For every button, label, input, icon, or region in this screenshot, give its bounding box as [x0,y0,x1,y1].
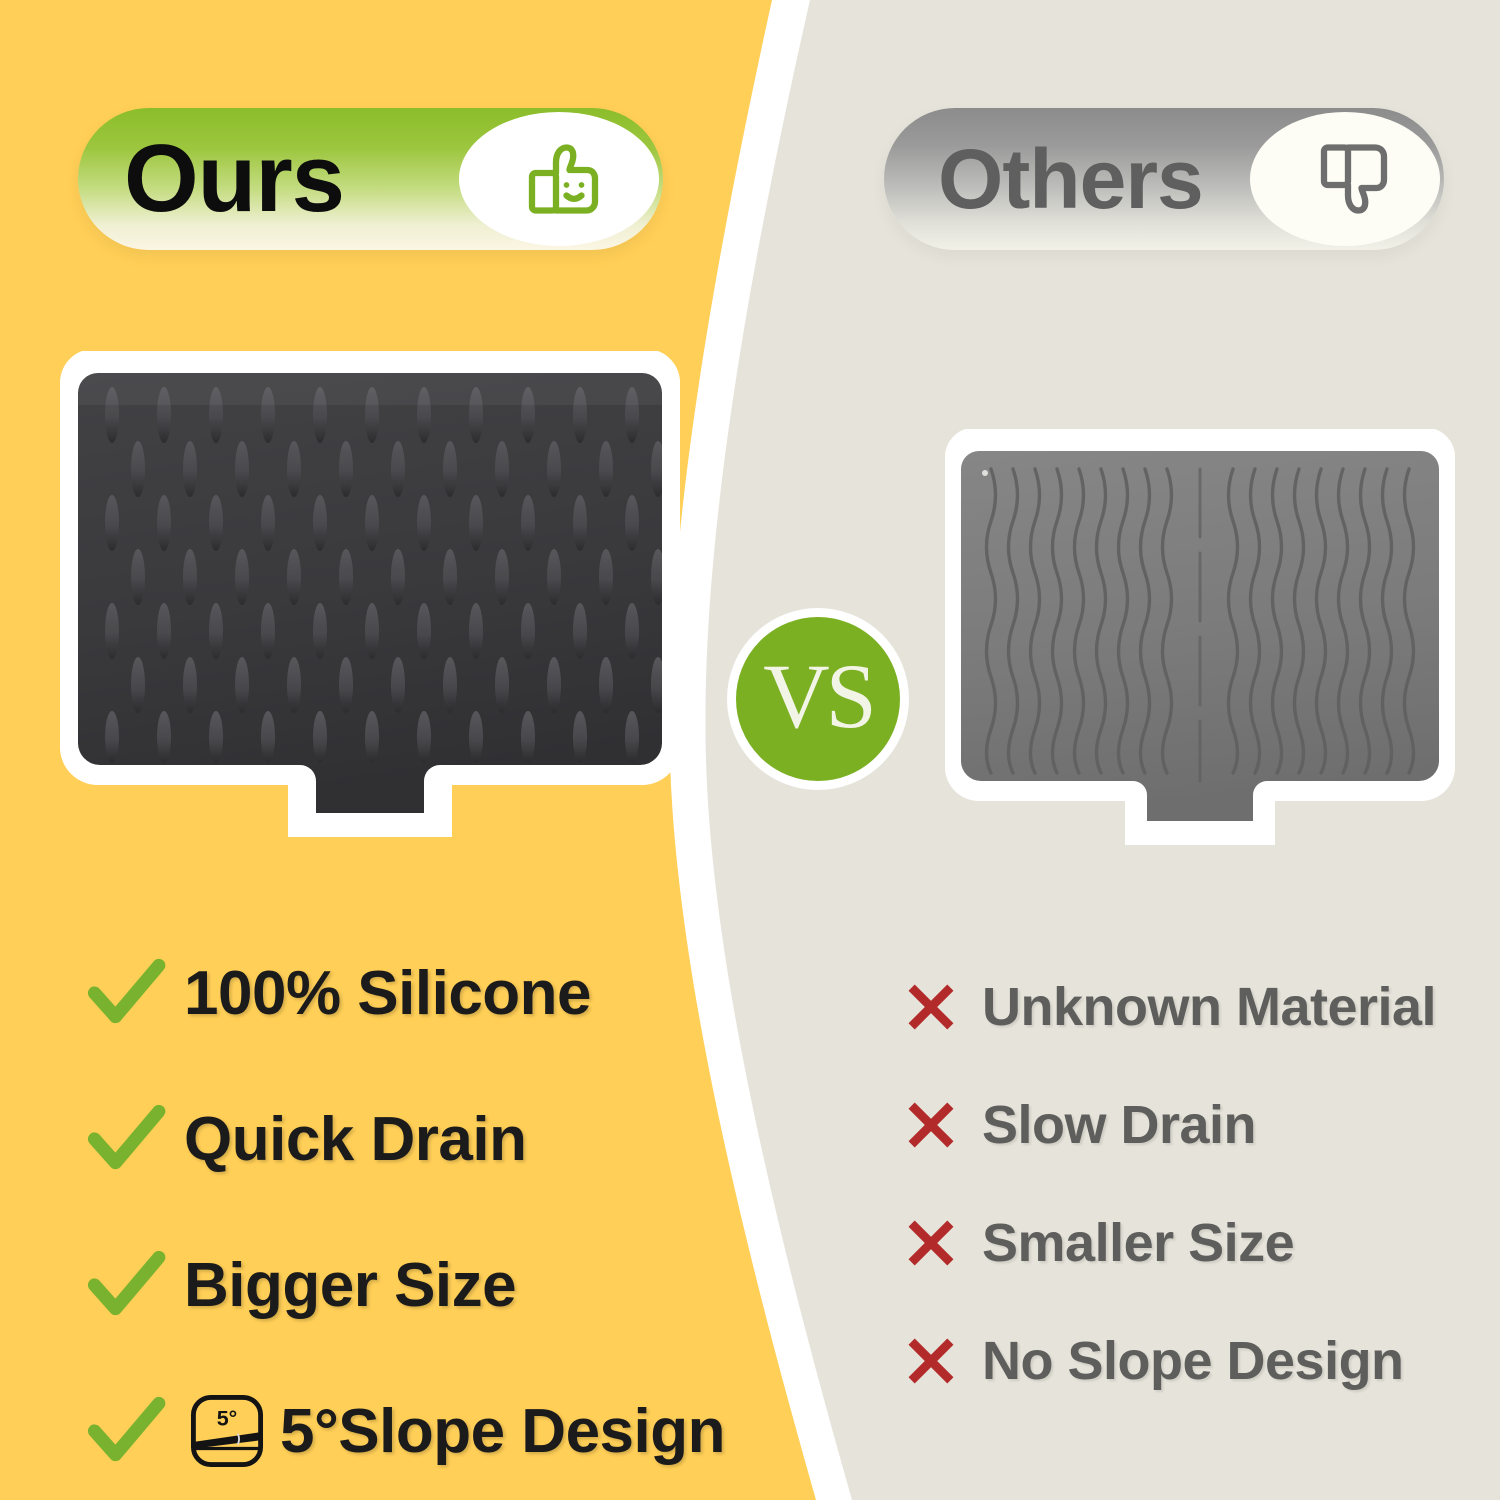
thumbs-up-icon [459,112,659,246]
check-icon [84,1389,168,1473]
feature-list-ours: 100% Silicone Quick Drain Bigger Size [84,920,764,1500]
ours-badge-label: Ours [124,124,344,234]
feature-label: 100% Silicone [184,958,591,1029]
feature-row-others-3: Smaller Size [900,1184,1480,1302]
thumbs-down-icon [1250,112,1440,246]
feature-row-ours-4: 5° 5°Slope Design [84,1358,764,1500]
check-icon [84,1243,168,1327]
feature-label: Quick Drain [184,1104,527,1175]
cross-icon [900,1094,962,1156]
feature-row-others-4: No Slope Design [900,1302,1480,1420]
check-icon [84,1097,168,1181]
comparison-graphic: Ours Others [0,0,1500,1500]
product-image-others [945,425,1455,865]
feature-label: Slow Drain [982,1094,1256,1156]
others-badge: Others [884,108,1444,250]
vs-label: VS [763,643,873,749]
feature-row-others-2: Slow Drain [900,1066,1480,1184]
ours-badge: Ours [78,108,663,250]
feature-label: 5°Slope Design [280,1396,725,1467]
feature-label: Smaller Size [982,1212,1294,1274]
slope-angle-icon: 5° [184,1388,270,1474]
feature-label: Unknown Material [982,976,1436,1038]
feature-row-ours-2: Quick Drain [84,1066,764,1212]
feature-row-ours-3: Bigger Size [84,1212,764,1358]
svg-text:5°: 5° [217,1407,238,1431]
others-badge-label: Others [938,131,1203,228]
feature-list-others: Unknown Material Slow Drain Smaller Size [900,948,1480,1420]
feature-row-ours-1: 100% Silicone [84,920,764,1066]
feature-label: No Slope Design [982,1330,1404,1392]
cross-icon [900,1212,962,1274]
feature-row-others-1: Unknown Material [900,948,1480,1066]
cross-icon [900,1330,962,1392]
vs-badge: VS [727,608,909,790]
cross-icon [900,976,962,1038]
feature-label: Bigger Size [184,1250,516,1321]
check-icon [84,951,168,1035]
product-image-ours [60,345,680,865]
